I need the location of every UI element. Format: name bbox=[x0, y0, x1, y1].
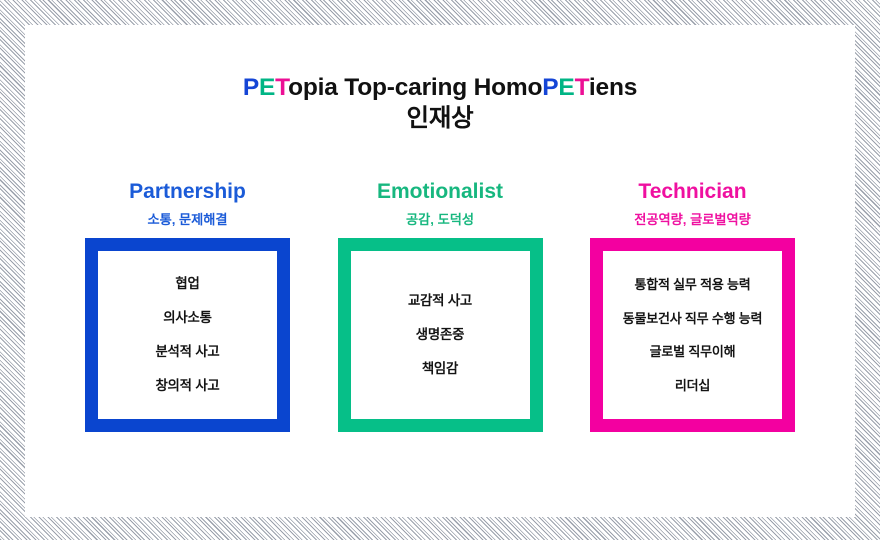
column-box-emotionalist: 교감적 사고 생명존중 책임감 bbox=[338, 238, 543, 432]
column-subtitle-technician: 전공역량, 글로벌역량 bbox=[634, 212, 751, 227]
list-item: 교감적 사고 bbox=[408, 293, 472, 309]
item-list-emotionalist: 교감적 사고 생명존중 책임감 bbox=[351, 284, 530, 386]
competency-columns: Partnership 소통, 문제해결 협업 의사소통 분석적 사고 창의적 … bbox=[85, 180, 795, 432]
column-technician: Technician 전공역량, 글로벌역량 통합적 실무 적용 능력 동물보건… bbox=[590, 180, 795, 432]
page-title: PETopia Top-caring HomoPETiens 인재상 bbox=[25, 72, 855, 135]
column-heading-partnership: Partnership bbox=[129, 180, 246, 204]
column-emotionalist: Emotionalist 공감, 도덕성 교감적 사고 생명존중 책임감 bbox=[338, 180, 543, 432]
list-item: 글로벌 직무이해 bbox=[650, 344, 736, 360]
column-subtitle-partnership: 소통, 문제해결 bbox=[147, 212, 227, 227]
title-seg-mid: opia Top-caring Homo bbox=[288, 74, 542, 101]
list-item: 의사소통 bbox=[163, 310, 211, 326]
list-item: 생명존중 bbox=[416, 327, 464, 343]
slide-canvas: PETopia Top-caring HomoPETiens 인재상 Partn… bbox=[25, 25, 855, 517]
list-item: 리더십 bbox=[675, 378, 710, 394]
title-seg-t2: T bbox=[575, 74, 589, 101]
title-seg-p2: P bbox=[542, 74, 558, 101]
title-seg-p1: P bbox=[243, 74, 259, 101]
column-partnership: Partnership 소통, 문제해결 협업 의사소통 분석적 사고 창의적 … bbox=[85, 180, 290, 432]
item-list-technician: 통합적 실무 적용 능력 동물보건사 직무 수행 능력 글로벌 직무이해 리더십 bbox=[603, 268, 782, 402]
list-item: 협업 bbox=[175, 276, 199, 292]
column-box-partnership: 협업 의사소통 분석적 사고 창의적 사고 bbox=[85, 238, 290, 432]
list-item: 창의적 사고 bbox=[155, 378, 219, 394]
column-box-technician: 통합적 실무 적용 능력 동물보건사 직무 수행 능력 글로벌 직무이해 리더십 bbox=[590, 238, 795, 432]
title-seg-e2: E bbox=[558, 74, 574, 101]
list-item: 분석적 사고 bbox=[155, 344, 219, 360]
column-heading-technician: Technician bbox=[638, 180, 746, 204]
title-seg-end: iens bbox=[589, 74, 637, 101]
page-frame: PETopia Top-caring HomoPETiens 인재상 Partn… bbox=[0, 0, 880, 540]
title-line-2: 인재상 bbox=[25, 103, 855, 134]
list-item: 통합적 실무 적용 능력 bbox=[634, 277, 750, 293]
list-item: 책임감 bbox=[422, 361, 458, 377]
title-line-1: PETopia Top-caring HomoPETiens bbox=[25, 72, 855, 103]
title-seg-e1: E bbox=[259, 74, 275, 101]
column-heading-emotionalist: Emotionalist bbox=[377, 180, 503, 204]
list-item: 동물보건사 직무 수행 능력 bbox=[623, 311, 763, 327]
item-list-partnership: 협업 의사소통 분석적 사고 창의적 사고 bbox=[98, 267, 277, 403]
title-seg-t1: T bbox=[275, 74, 288, 101]
column-subtitle-emotionalist: 공감, 도덕성 bbox=[406, 212, 474, 227]
